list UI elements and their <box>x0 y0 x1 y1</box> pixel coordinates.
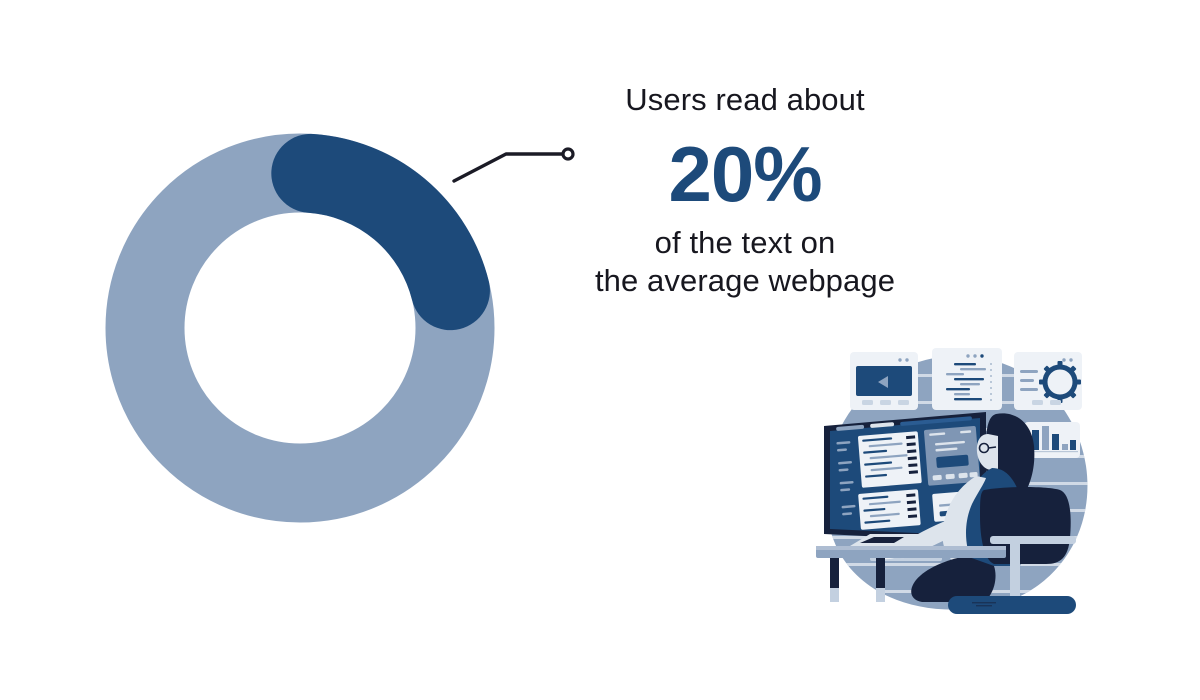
illustration-svg <box>808 338 1108 630</box>
callout-sub-line-1: of the text on <box>545 224 945 262</box>
infographic-canvas: Users read about 20% of the text on the … <box>0 0 1200 700</box>
settings-card <box>1014 352 1082 410</box>
desk-top-highlight <box>816 546 1006 550</box>
callout-lead-text: Users read about <box>545 80 945 120</box>
desk-leg-right-foot <box>876 588 885 602</box>
chair-column <box>1010 538 1020 600</box>
callout-sub-line-2: the average webpage <box>545 262 945 300</box>
document-list-card <box>932 348 1002 410</box>
chair-base <box>948 596 1076 614</box>
callout-text-block: Users read about 20% of the text on the … <box>545 80 945 300</box>
media-player-card <box>850 352 918 410</box>
donut-chart-svg <box>95 123 505 533</box>
person-at-computer-illustration <box>808 338 1108 630</box>
callout-value: 20% <box>545 126 945 222</box>
donut-chart <box>95 123 505 533</box>
desk-leg-left-foot <box>830 588 839 602</box>
chair-seat-edge <box>990 536 1076 544</box>
